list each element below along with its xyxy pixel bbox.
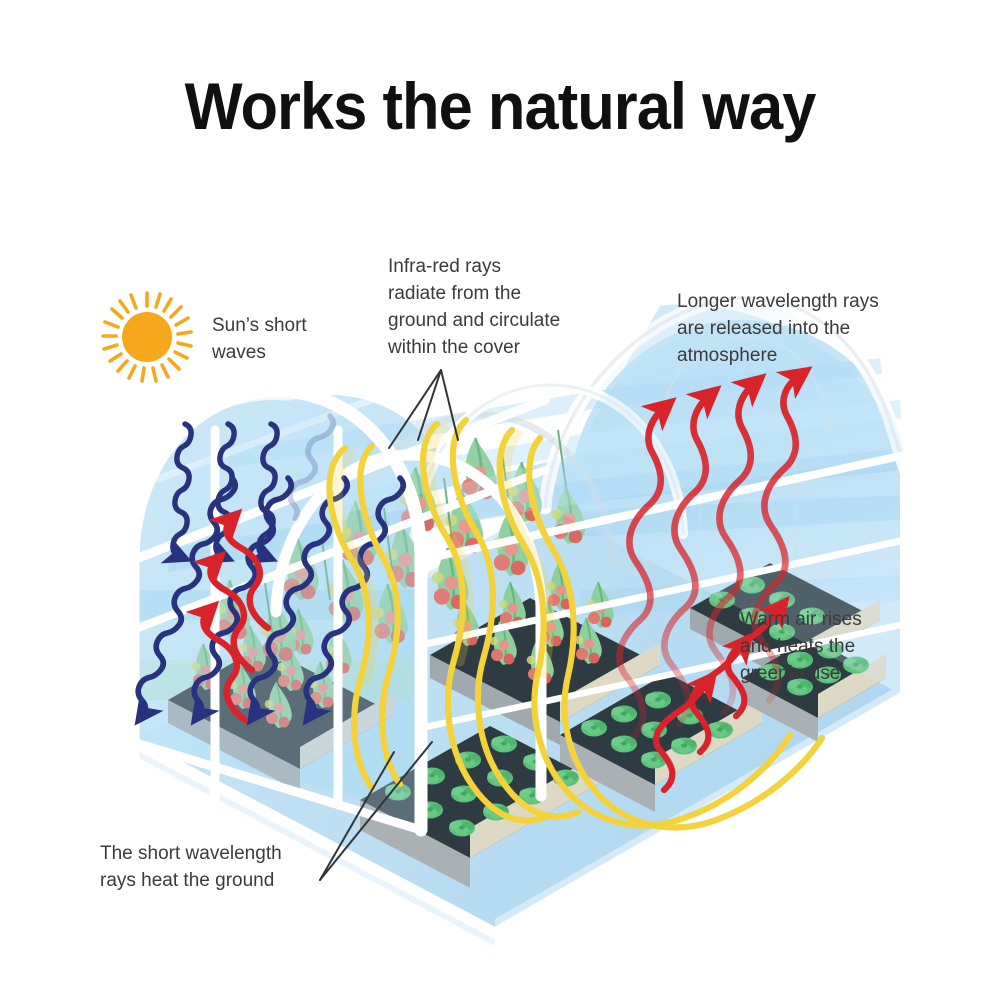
callout-warm-air-rises: Warm air rises and heats the greenhouse: [740, 606, 930, 687]
callout-infrared-circulation: Infra-red rays radiate from the ground a…: [388, 253, 603, 361]
sun-icon: [103, 293, 191, 381]
callout-longer-wavelength-rays: Longer wavelength rays are released into…: [677, 288, 927, 369]
callout-sun-short-waves: Sun’s short waves: [212, 312, 362, 366]
infographic-canvas: Works the natural way: [0, 0, 1000, 1000]
callout-short-wavelength-ground: The short wavelength rays heat the groun…: [100, 840, 360, 894]
